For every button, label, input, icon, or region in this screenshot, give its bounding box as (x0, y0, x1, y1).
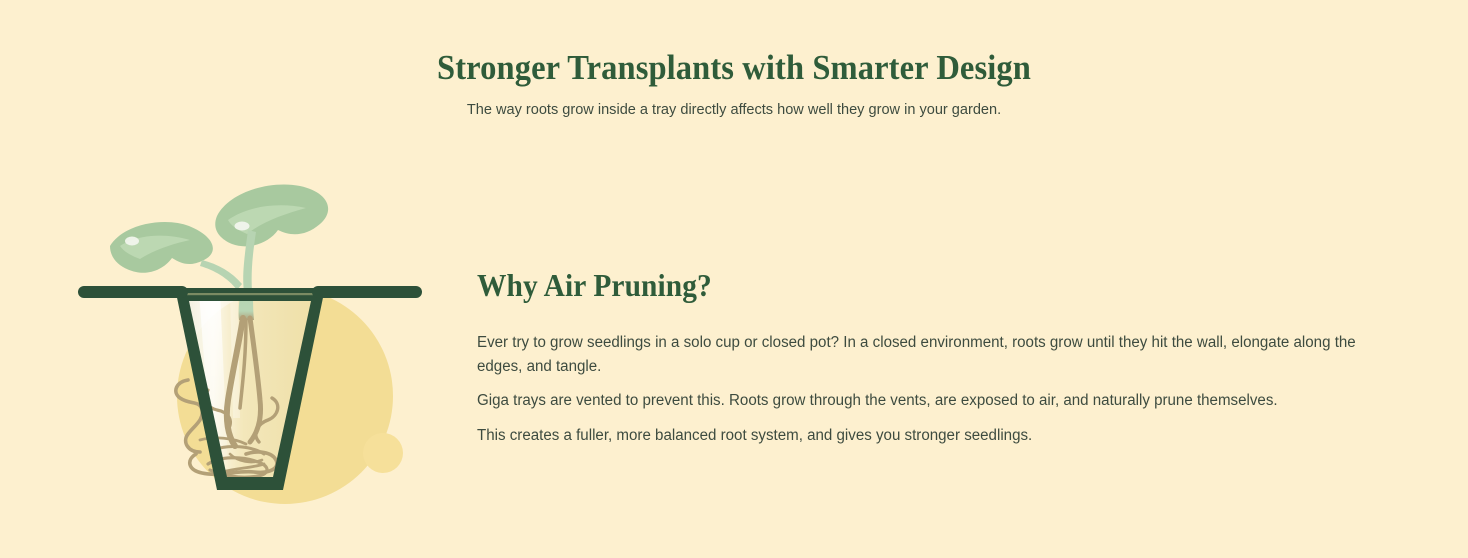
seedling-leaf-right (215, 184, 328, 246)
tray-rim-right (312, 286, 422, 298)
air-pruning-section: Why Air Pruning? Ever try to grow seedli… (477, 265, 1412, 448)
tray-rim-left (78, 286, 188, 298)
section-heading: Why Air Pruning? (477, 265, 1337, 305)
page-title: Stronger Transplants with Smarter Design (51, 46, 1416, 90)
seedling-illustration (62, 168, 432, 513)
page-root: Stronger Transplants with Smarter Design… (0, 0, 1468, 558)
body-paragraph-2: Giga trays are vented to prevent this. R… (477, 389, 1413, 413)
page-subtitle: The way roots grow inside a tray directl… (22, 99, 1446, 121)
body-paragraph-1: Ever try to grow seedlings in a solo cup… (477, 331, 1359, 379)
seedling-leaf-left (110, 222, 213, 273)
seedling-stem-left-branch (200, 260, 242, 290)
hero-header: Stronger Transplants with Smarter Design… (0, 46, 1468, 121)
tray-top-edge-line (187, 293, 313, 295)
body-paragraph-3: This creates a fuller, more balanced roo… (477, 424, 1389, 448)
decorative-gold-circle-small (363, 433, 403, 473)
